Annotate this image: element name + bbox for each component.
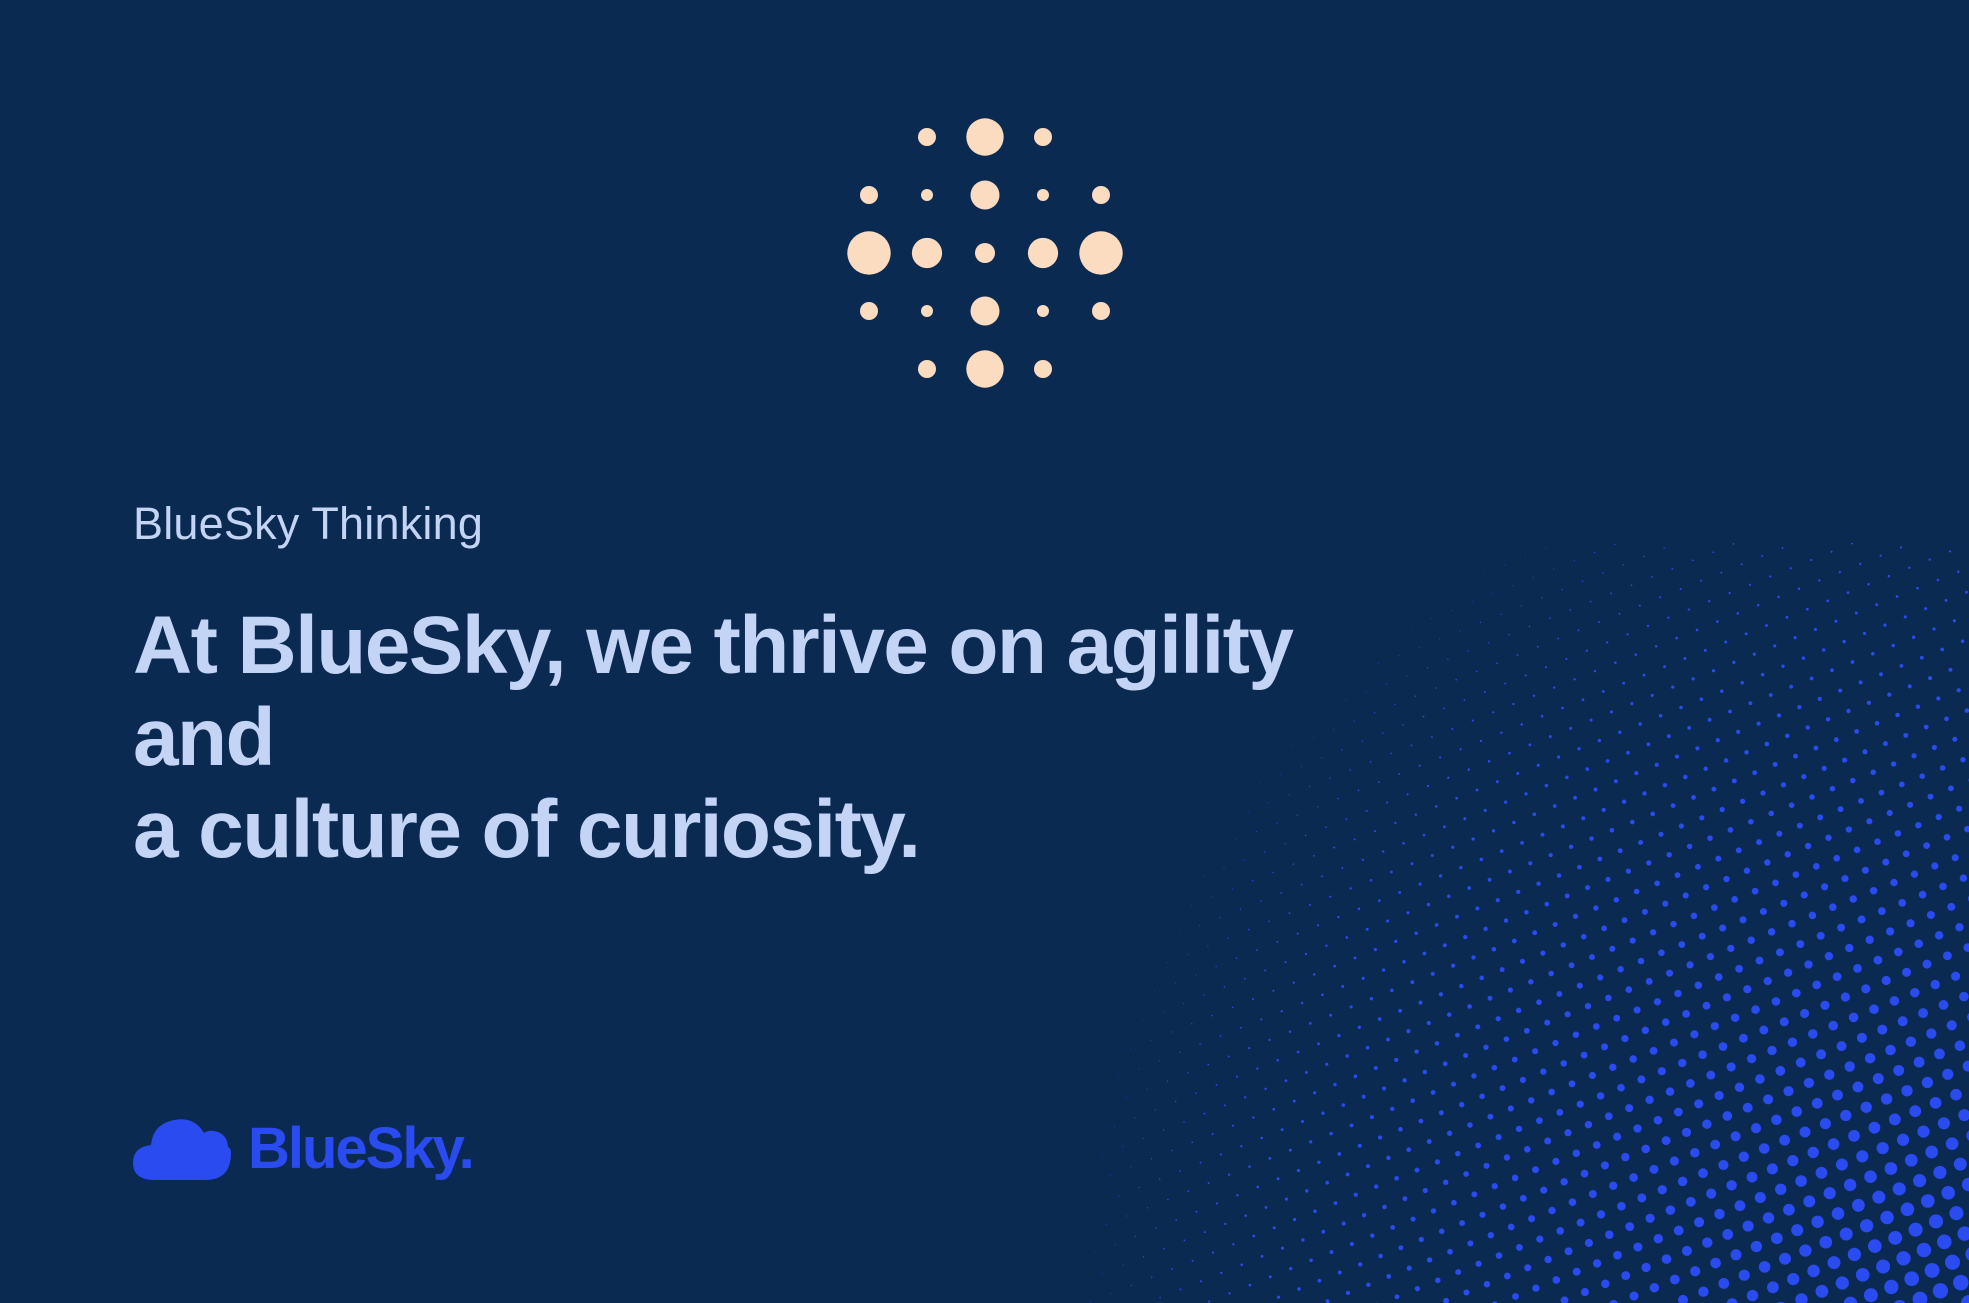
media-strip: Driving Impact where Business, Technolog…	[840, 100, 1850, 400]
logo-wordmark: BlueSky.	[248, 1120, 473, 1178]
cloud-icon	[133, 1118, 231, 1180]
dot-pattern-icon	[840, 108, 1130, 398]
eyebrow-label: BlueSky Thinking	[133, 498, 483, 550]
slide-canvas: Driving Impact where Business, Technolog…	[0, 0, 1969, 1303]
bluesky-logo: BlueSky.	[133, 1118, 473, 1180]
page-title: At BlueSky, we thrive on agility and a c…	[133, 600, 1383, 875]
